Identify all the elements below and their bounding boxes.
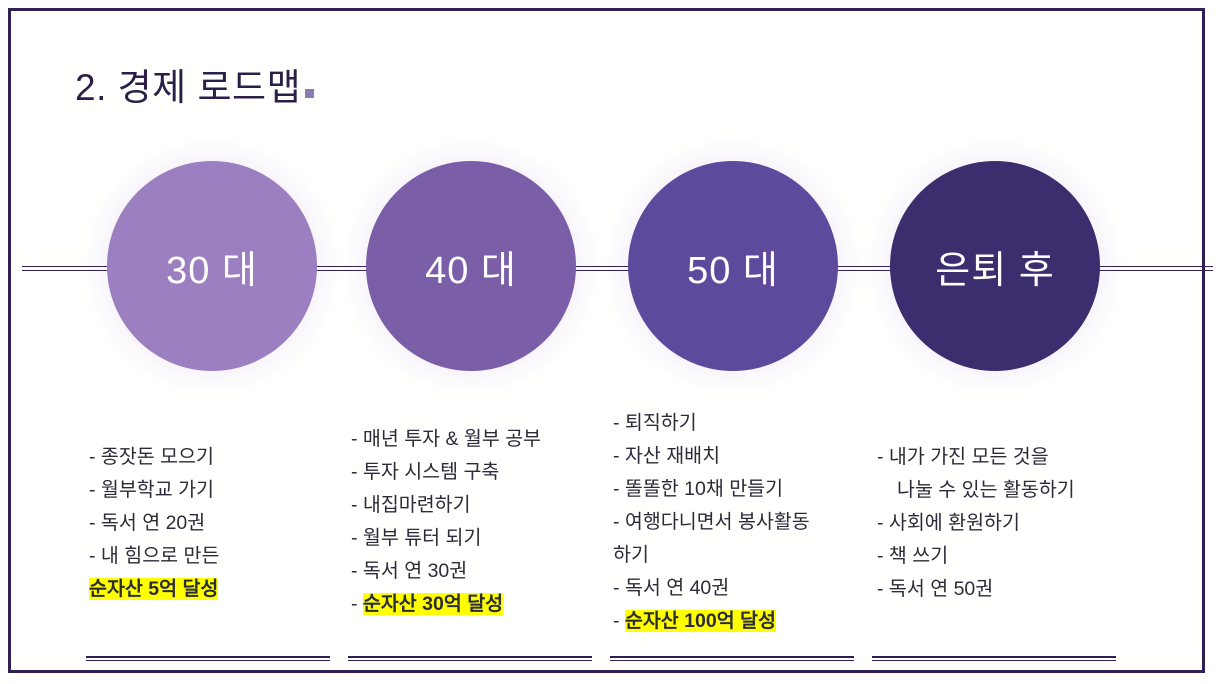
stage-item: - 내가 가진 모든 것을 (877, 441, 1075, 474)
stage-item: - 독서 연 30권 (351, 555, 541, 588)
stage-item-text: - 월부 튜터 되기 (351, 527, 481, 549)
stage-item-text: - 독서 연 30권 (351, 560, 467, 582)
slide-frame: 2. 경제 로드맵 30 대 40 대 50 대 은퇴 후 - 종잣돈 모으기-… (8, 8, 1205, 673)
stage-underline-30s (86, 656, 330, 661)
stage-item-text: - 독서 연 20권 (89, 512, 205, 534)
stage-item-text: - 여행다니면서 봉사활동 (613, 511, 810, 533)
stage-item-text: - 내가 가진 모든 것을 (877, 446, 1049, 468)
stage-underline-50s (610, 656, 854, 661)
stage-item-text: - 독서 연 40권 (613, 577, 729, 599)
stage-item: - 퇴직하기 (613, 407, 810, 440)
stage-items-40s: - 매년 투자 & 월부 공부- 투자 시스템 구축- 내집마련하기- 월부 튜… (351, 423, 541, 621)
stage-item: - 월부학교 가기 (89, 474, 219, 507)
stage-item-text: - 퇴직하기 (613, 412, 697, 434)
stage-item-text: - 월부학교 가기 (89, 479, 214, 501)
page-title: 2. 경제 로드맵 (75, 57, 314, 111)
stage-circle-label: 30 대 (166, 239, 258, 294)
stage-circle-40s[interactable]: 40 대 (366, 161, 576, 371)
stage-circle-label: 40 대 (425, 239, 517, 294)
stage-item: - 여행다니면서 봉사활동 (613, 506, 810, 539)
stage-item-goal: 순자산 5억 달성 (89, 578, 218, 600)
stage-circle-50s[interactable]: 50 대 (628, 161, 838, 371)
stage-item-text: - 사회에 환원하기 (877, 512, 1020, 534)
stage-item-goal: 순자산 30억 달성 (363, 593, 503, 615)
stage-item-text: - 똘똘한 10채 만들기 (613, 478, 783, 500)
stage-item: - 내집마련하기 (351, 489, 541, 522)
stage-item-goal: 순자산 100억 달성 (625, 610, 776, 632)
stage-items-50s: - 퇴직하기- 자산 재배치- 똘똘한 10채 만들기- 여행다니면서 봉사활동… (613, 407, 810, 638)
stage-item: - 매년 투자 & 월부 공부 (351, 423, 541, 456)
stage-item: - 내 힘으로 만든 (89, 540, 219, 573)
stage-underline-40s (348, 656, 592, 661)
stage-item-text: - 매년 투자 & 월부 공부 (351, 428, 541, 450)
stage-item: - 독서 연 50권 (877, 573, 1075, 606)
stage-item-text: - 내집마련하기 (351, 494, 471, 516)
stage-item-text: - 자산 재배치 (613, 445, 720, 467)
stage-item: 순자산 5억 달성 (89, 573, 219, 606)
stage-item-text: - 내 힘으로 만든 (89, 545, 219, 567)
stage-item: - 독서 연 40권 (613, 572, 810, 605)
stage-circle-label: 50 대 (687, 239, 779, 294)
stage-underline-retirement (872, 656, 1116, 661)
slide-canvas: 2. 경제 로드맵 30 대 40 대 50 대 은퇴 후 - 종잣돈 모으기-… (0, 0, 1216, 684)
stage-item: - 자산 재배치 (613, 440, 810, 473)
stage-item: - 순자산 30억 달성 (351, 588, 541, 621)
stage-item-text: - 독서 연 50권 (877, 578, 993, 600)
stage-circle-retirement[interactable]: 은퇴 후 (890, 161, 1100, 371)
stage-item-text: - 책 쓰기 (877, 545, 948, 567)
stage-circle-30s[interactable]: 30 대 (107, 161, 317, 371)
stage-item: 하기 (613, 539, 810, 572)
stage-items-30s: - 종잣돈 모으기- 월부학교 가기- 독서 연 20권- 내 힘으로 만든순자… (89, 441, 219, 606)
stage-item-text: 하기 (613, 544, 649, 566)
stage-item-text: - 투자 시스템 구축 (351, 461, 499, 483)
stage-item: - 순자산 100억 달성 (613, 605, 810, 638)
stage-item: 나눌 수 있는 활동하기 (877, 474, 1075, 507)
stage-item-bullet: - (613, 610, 625, 632)
stage-item: - 독서 연 20권 (89, 507, 219, 540)
stage-item-text: 나눌 수 있는 활동하기 (897, 479, 1075, 501)
stage-items-retirement: - 내가 가진 모든 것을나눌 수 있는 활동하기- 사회에 환원하기- 책 쓰… (877, 441, 1075, 606)
stage-item-bullet: - (351, 593, 363, 615)
stage-item: - 투자 시스템 구축 (351, 456, 541, 489)
stage-item: - 월부 튜터 되기 (351, 522, 541, 555)
page-title-text: 2. 경제 로드맵 (75, 67, 301, 108)
stage-item: - 종잣돈 모으기 (89, 441, 219, 474)
stage-circle-label: 은퇴 후 (935, 239, 1054, 294)
title-accent-square (305, 89, 314, 98)
stage-item: - 책 쓰기 (877, 540, 1075, 573)
stage-item: - 똘똘한 10채 만들기 (613, 473, 810, 506)
stage-item: - 사회에 환원하기 (877, 507, 1075, 540)
stage-item-text: - 종잣돈 모으기 (89, 446, 214, 468)
